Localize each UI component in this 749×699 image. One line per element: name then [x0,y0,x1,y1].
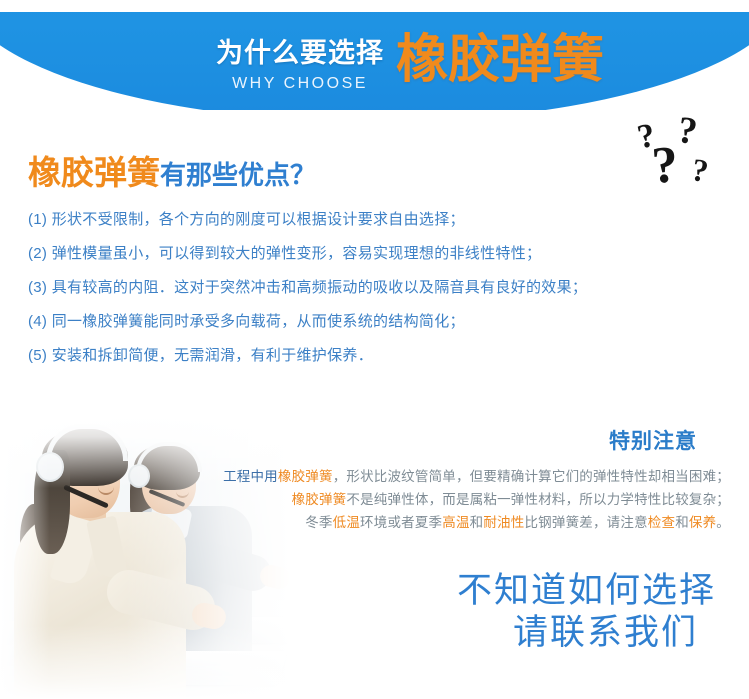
list-item: (2) 弹性模量虽小，可以得到较大的弹性变形，容易实现理想的非线性特性； [28,246,728,262]
customer-service-photo [0,414,330,699]
notice-text-run: 。 [716,515,730,530]
notice-text-run: 低温 [333,515,360,530]
notice-title: 特别注意 [609,425,697,455]
cta-line-1: 不知道如何选择 [0,570,716,612]
notice-text-run: 保养 [689,515,716,530]
notice-text-run: 比钢弹簧差，请注意 [524,515,647,530]
section-heading: 橡胶弹簧有那些优点？ [28,146,316,194]
section-heading-highlight: 橡胶弹簧 [28,154,160,191]
notice-line: 冬季低温环境或者夏季高温和耐油性比钢弹簧差，请注意检查和保养。 [0,511,730,534]
banner-product-name: 橡胶弹簧 [396,32,604,88]
notice-line: 工程中用橡胶弹簧，形状比波纹管简单，但要精确计算它们的弹性特性却相当困难； [0,465,730,488]
question-mark-icon: ? [689,153,710,187]
photo-fade-vertical [0,414,330,699]
notice-text-run: 耐油性 [483,515,524,530]
notice-text-run: ，形状比波纹管简单，但要精确计算它们的弹性特性却相当困难； [333,469,730,484]
banner-title-en: WHY CHOOSE [205,74,395,94]
question-mark-decoration: ? ? ? ? [624,112,734,202]
question-mark-icon: ? [650,139,680,193]
list-item: (1) 形状不受限制，各个方向的刚度可以根据设计要求自由选择； [28,212,728,228]
cta-block: 不知道如何选择 请联系我们 [0,570,716,654]
header-banner: 为什么要选择 WHY CHOOSE 橡胶弹簧 [0,12,749,110]
list-item: (4) 同一橡胶弹簧能同时承受多向载荷，从而使系统的结构简化； [28,314,728,330]
notice-text-run: 和 [470,515,484,530]
notice-text-run: 橡胶弹簧 [292,492,347,507]
banner-title-cn: 为什么要选择 [205,38,395,68]
notice-text-run: 橡胶弹簧 [278,469,333,484]
notice-body: 工程中用橡胶弹簧，形状比波纹管简单，但要精确计算它们的弹性特性却相当困难； 橡胶… [0,465,730,534]
question-mark-icon: ? [675,111,699,151]
advantages-list: (1) 形状不受限制，各个方向的刚度可以根据设计要求自由选择； (2) 弹性模量… [28,212,728,382]
notice-text-run: 高温 [442,515,469,530]
notice-text-run: 和 [675,515,689,530]
list-item: (3) 具有较高的内阻．这对于突然冲击和高频振动的吸收以及隔音具有良好的效果； [28,280,728,296]
notice-line: 橡胶弹簧不是纯弹性体，而是属粘一弹性材料，所以力学特性比较复杂； [0,488,730,511]
cta-line-2: 请联系我们 [0,612,716,654]
notice-text-run: 检查 [648,515,675,530]
notice-text-run: 不是纯弹性体，而是属粘一弹性材料，所以力学特性比较复杂； [346,492,730,507]
notice-text-run: 冬季 [305,515,332,530]
promo-page: 为什么要选择 WHY CHOOSE 橡胶弹簧 ? ? ? ? 橡胶弹簧有那些优点… [0,0,749,699]
section-heading-rest: 有那些优点？ [160,160,316,190]
list-item: (5) 安装和拆卸简便，无需润滑，有利于维护保养． [28,348,728,364]
notice-text-run: 环境或者夏季 [360,515,442,530]
banner-content: 为什么要选择 WHY CHOOSE 橡胶弹簧 [0,12,749,110]
notice-text-run: 工程中用 [223,469,278,484]
banner-title-group: 为什么要选择 WHY CHOOSE [205,38,395,94]
